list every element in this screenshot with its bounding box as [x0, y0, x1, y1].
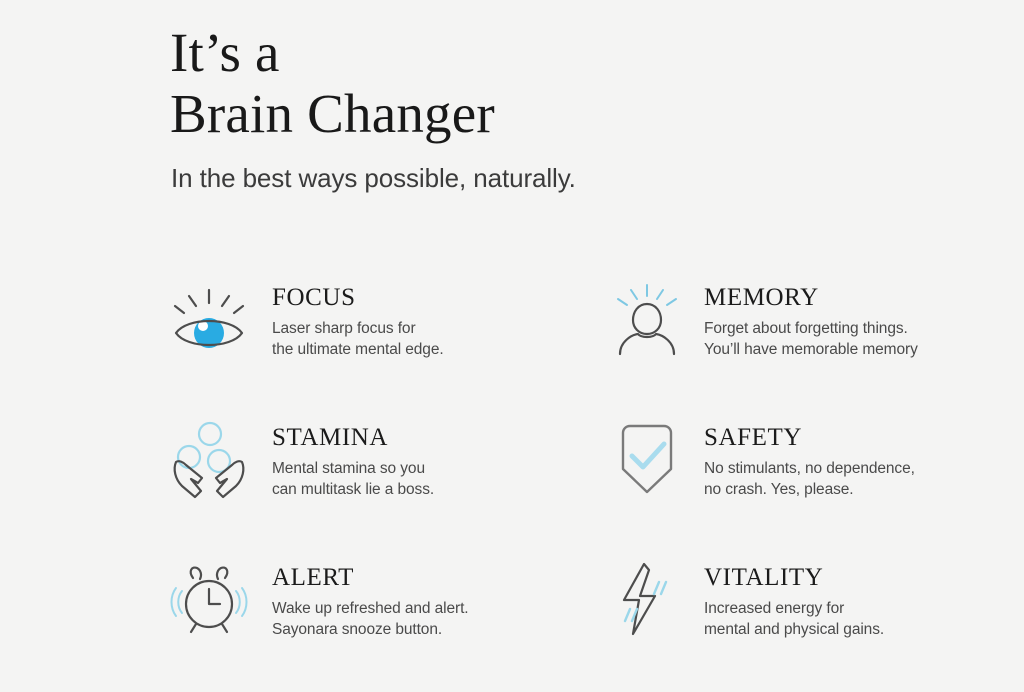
desc-line-2: the ultimate mental edge. — [272, 339, 444, 360]
feature-text: ALERT Wake up refreshed and alert. Sayon… — [248, 552, 469, 640]
shield-check-icon — [610, 416, 684, 502]
feature-text: MEMORY Forget about forgetting things. Y… — [684, 272, 918, 360]
feature-focus: FOCUS Laser sharp focus for the ultimate… — [170, 272, 610, 412]
desc-line-1: Forget about forgetting things. — [704, 318, 918, 339]
feature-title: MEMORY — [704, 284, 918, 312]
feature-vitality: VITALITY Increased energy for mental and… — [610, 552, 960, 692]
desc-line-2: can multitask lie a boss. — [272, 479, 434, 500]
desc-line-2: You’ll have memorable memory — [704, 339, 918, 360]
person-bust-icon — [610, 276, 684, 362]
feature-text: FOCUS Laser sharp focus for the ultimate… — [248, 272, 444, 360]
lightning-bolt-icon — [610, 556, 684, 642]
feature-title: FOCUS — [272, 284, 444, 312]
page-title: It’s a Brain Changer — [170, 22, 870, 144]
desc-line-1: Laser sharp focus for — [272, 318, 444, 339]
feature-title: ALERT — [272, 564, 469, 592]
title-line-1: It’s a — [170, 22, 870, 83]
feature-stamina: STAMINA Mental stamina so you can multit… — [170, 412, 610, 552]
desc-line-1: No stimulants, no dependence, — [704, 458, 915, 479]
feature-text: SAFETY No stimulants, no dependence, no … — [684, 412, 915, 500]
feature-title: VITALITY — [704, 564, 884, 592]
feature-description: Laser sharp focus for the ultimate menta… — [272, 318, 444, 360]
desc-line-2: Sayonara snooze button. — [272, 619, 469, 640]
feature-description: No stimulants, no dependence, no crash. … — [704, 458, 915, 500]
hands-juggling-icon — [170, 416, 248, 502]
feature-safety: SAFETY No stimulants, no dependence, no … — [610, 412, 960, 552]
alarm-clock-icon — [170, 556, 248, 642]
title-line-2: Brain Changer — [170, 83, 870, 144]
desc-line-1: Wake up refreshed and alert. — [272, 598, 469, 619]
feature-alert: ALERT Wake up refreshed and alert. Sayon… — [170, 552, 610, 692]
feature-grid: FOCUS Laser sharp focus for the ultimate… — [170, 272, 960, 692]
feature-description: Mental stamina so you can multitask lie … — [272, 458, 434, 500]
feature-memory: MEMORY Forget about forgetting things. Y… — [610, 272, 960, 412]
promo-page: It’s a Brain Changer In the best ways po… — [0, 0, 1024, 682]
feature-text: VITALITY Increased energy for mental and… — [684, 552, 884, 640]
feature-description: Wake up refreshed and alert. Sayonara sn… — [272, 598, 469, 640]
feature-description: Forget about forgetting things. You’ll h… — [704, 318, 918, 360]
feature-text: STAMINA Mental stamina so you can multit… — [248, 412, 434, 500]
desc-line-1: Increased energy for — [704, 598, 884, 619]
feature-title: STAMINA — [272, 424, 434, 452]
feature-description: Increased energy for mental and physical… — [704, 598, 884, 640]
desc-line-2: no crash. Yes, please. — [704, 479, 915, 500]
desc-line-2: mental and physical gains. — [704, 619, 884, 640]
feature-title: SAFETY — [704, 424, 915, 452]
desc-line-1: Mental stamina so you — [272, 458, 434, 479]
page-subtitle: In the best ways possible, naturally. — [171, 161, 576, 195]
eye-icon — [170, 276, 248, 362]
